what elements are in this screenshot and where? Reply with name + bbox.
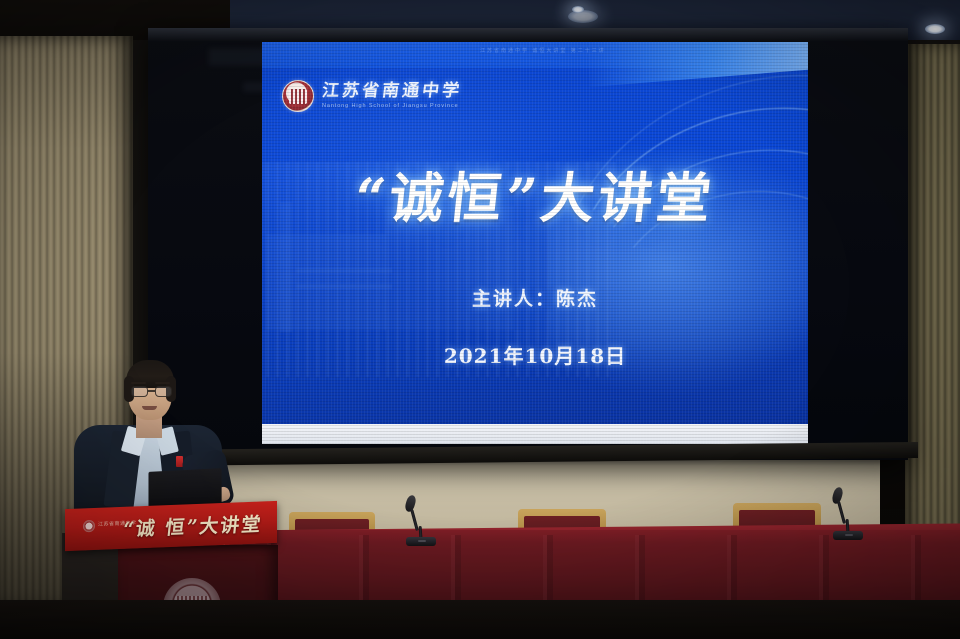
ceiling-downlight-icon	[572, 6, 584, 13]
slide-date-label: 2021年10月18日	[262, 340, 808, 369]
foreground-floor	[0, 600, 960, 639]
school-logo: 江苏省南通中学 Nantong High School of Jiangsu P…	[282, 80, 462, 112]
presentation-slide: 江苏省南通中学 诚恒大讲堂 第二十三讲 江苏省南通中学 Nantong High…	[262, 42, 808, 444]
slide-speaker-label: 主讲人：陈杰	[262, 284, 808, 311]
eyeglasses-icon	[131, 386, 148, 397]
ceiling-downlight-icon	[925, 24, 945, 34]
presenter-mouth	[142, 406, 157, 410]
school-crest-icon	[282, 80, 314, 112]
ceiling-downlight-icon	[568, 10, 598, 23]
lecture-hall-photo: 江苏省南通中学 诚恒大讲堂 第二十三讲 江苏省南通中学 Nantong High…	[0, 0, 960, 639]
eyeglasses-icon	[155, 386, 172, 397]
podium-banner-text: “诚 恒”大讲堂	[122, 509, 264, 541]
eyeglasses-bridge	[148, 390, 155, 392]
slide-title: “诚恒”大讲堂	[262, 154, 808, 233]
school-name-cn: 江苏省南通中学	[321, 83, 463, 100]
presenter-brow-right	[155, 382, 170, 384]
school-name-en: Nantong High School of Jiangsu Province	[322, 103, 462, 109]
slide-faint-header: 江苏省南通中学 诚恒大讲堂 第二十三讲	[480, 47, 606, 54]
slide-bottom-white-strip	[262, 424, 808, 444]
presenter-brow-left	[131, 382, 146, 384]
right-wood-slat-wall	[905, 44, 960, 584]
podium-banner-crest-icon	[83, 520, 95, 532]
podium-banner: 江苏省南通中学 “诚 恒”大讲堂	[65, 501, 277, 551]
led-screen-top-lip	[148, 28, 908, 42]
